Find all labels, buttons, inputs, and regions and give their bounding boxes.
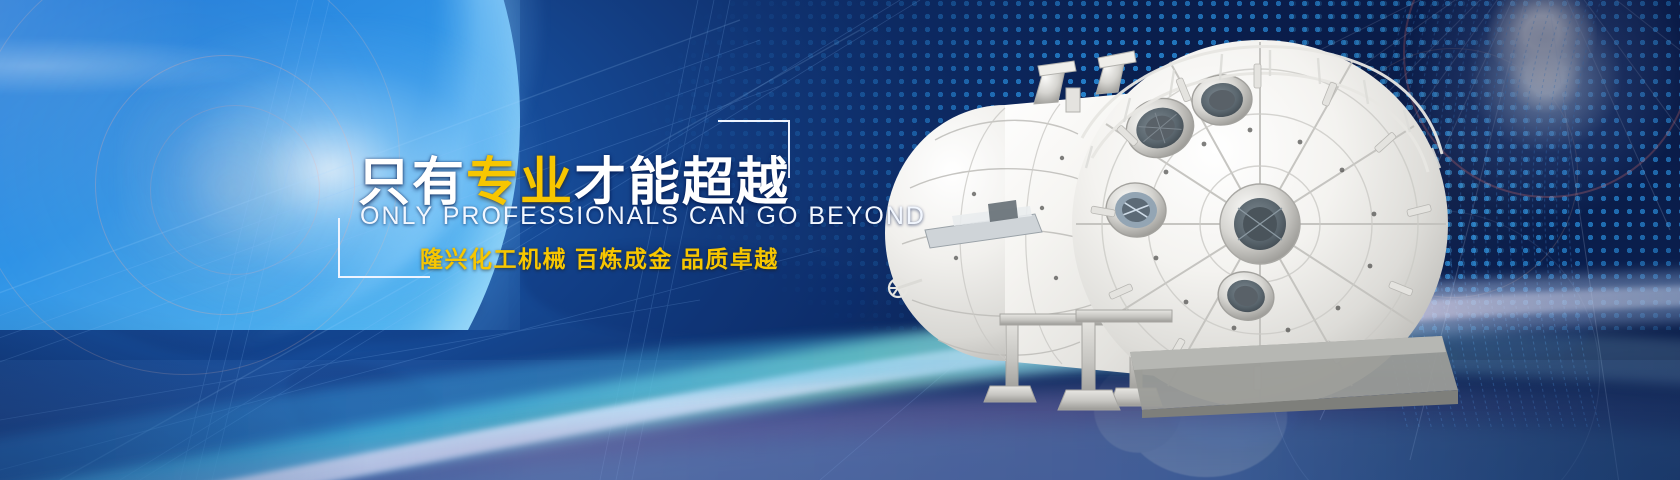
bracket-left-corner xyxy=(338,218,406,278)
headline-block: 只有专业才能超越 ONLY PROFESSIONALS CAN GO BEYON… xyxy=(330,118,830,278)
subtitle-english: ONLY PROFESSIONALS CAN GO BEYOND xyxy=(360,202,926,231)
chemical-pressure-vessel xyxy=(830,18,1530,418)
tagline: 隆兴化工机械 百炼成金 品质卓越 xyxy=(420,240,779,274)
bracket-left-tail xyxy=(404,276,430,278)
bracket-right-horizontal xyxy=(718,120,790,122)
hero-banner: 只有专业才能超越 ONLY PROFESSIONALS CAN GO BEYON… xyxy=(0,0,1680,480)
